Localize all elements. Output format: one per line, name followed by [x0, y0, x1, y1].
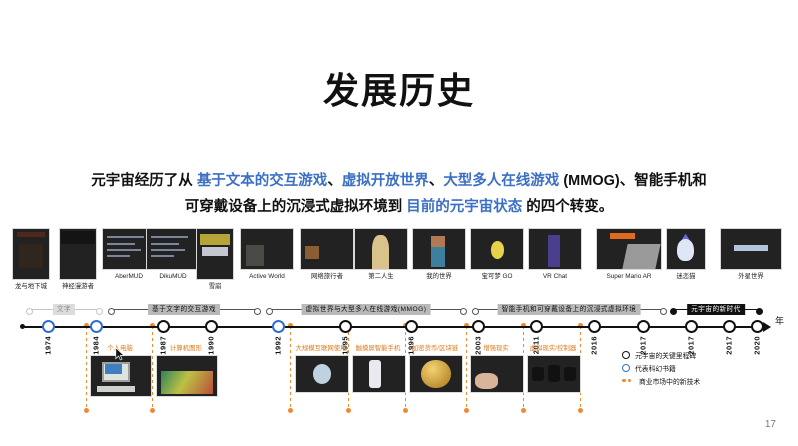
legend: 元宇宙的关键里程碑代表科幻书籍商业市场中的新技术	[622, 348, 792, 387]
technology-item: 增强现实	[470, 344, 522, 393]
technology-item: 加密货币/区块链	[409, 344, 461, 393]
thumbnail-caption: 我的世界	[412, 273, 466, 281]
thumbnail-item: Super Mario AR	[596, 228, 662, 281]
era-band: 元宇宙的新时代	[672, 304, 760, 315]
thumbnail-image	[596, 228, 662, 270]
thumbnail-image	[146, 228, 200, 270]
thumbnail-image	[412, 228, 466, 270]
slide-canvas: 发展历史 元宇宙经历了从 基于文本的交互游戏、虚拟开放世界、大型多人在线游戏 (…	[0, 0, 798, 446]
timeline-node-scifi[interactable]	[42, 320, 55, 333]
axis-start-dot	[20, 324, 25, 329]
technology-label: 增强现实	[470, 344, 522, 353]
thumbnail-image	[59, 228, 97, 280]
technology-item: 虚拟现实/控制器	[527, 344, 579, 393]
thumbnail-image	[240, 228, 294, 270]
paragraph-highlight-2: 虚拟开放世界	[342, 173, 429, 189]
paragraph-highlight-1: 基于文本的交互游戏	[197, 173, 328, 189]
paragraph-line-2: 可穿戴设备上的沉浸式虚拟环境到 目前的元宇宙状态 的四个转变。	[60, 194, 738, 220]
timeline-node-scifi[interactable]	[90, 320, 103, 333]
era-band-label: 文字	[53, 304, 75, 315]
paragraph-text-4: 的四个转变。	[522, 199, 613, 215]
era-band-label: 基于文字的交互游戏	[148, 304, 220, 315]
mouse-cursor-icon	[115, 347, 125, 362]
era-band: 虚拟世界与大型多人在线游戏(MMOG)	[268, 304, 464, 315]
legend-label: 商业市场中的新技术	[639, 376, 700, 386]
technology-label: 加密货币/区块链	[409, 344, 461, 353]
era-band-label: 元宇宙的新时代	[687, 304, 745, 315]
thumbnail-item: 外星世界	[720, 228, 782, 281]
technology-image	[156, 355, 218, 397]
thumbnail-caption: 外星世界	[720, 273, 782, 281]
technology-image	[295, 355, 349, 393]
milestone-thumbnail-strip: 龙与地下城神经漫游者AberMUDDikuMUD雪崩Active World网络…	[4, 228, 794, 296]
legend-marker-dots	[622, 379, 634, 383]
summary-paragraph: 元宇宙经历了从 基于文本的交互游戏、虚拟开放世界、大型多人在线游戏 (MMOG)…	[60, 168, 738, 220]
thumbnail-image	[720, 228, 782, 270]
paragraph-highlight-4: 目前的元宇宙状态	[406, 199, 522, 215]
thumbnail-caption: 第二人生	[354, 273, 408, 281]
technology-image	[470, 355, 524, 393]
axis-unit-label: 年	[775, 314, 784, 327]
thumbnail-caption: VR Chat	[528, 273, 582, 281]
thumbnail-caption: DikuMUD	[146, 273, 200, 281]
thumbnail-image	[666, 228, 706, 270]
thumbnail-image	[300, 228, 354, 270]
thumbnail-item: 迷恋猫	[666, 228, 706, 281]
era-band: 文字	[28, 304, 100, 315]
thumbnail-caption: 神经漫游者	[59, 283, 97, 291]
timeline-node-key[interactable]	[157, 320, 170, 333]
timeline-node-key[interactable]	[205, 320, 218, 333]
technology-image	[352, 355, 406, 393]
thumbnail-item: 第二人生	[354, 228, 408, 281]
thumbnail-item: 我的世界	[412, 228, 466, 281]
thumbnail-caption: 龙与地下城	[12, 283, 50, 291]
page-title: 发展历史	[0, 62, 798, 114]
thumbnail-image	[12, 228, 50, 280]
timeline-node-key[interactable]	[339, 320, 352, 333]
technology-image	[527, 355, 581, 393]
thumbnail-caption: Super Mario AR	[596, 273, 662, 281]
legend-item: 商业市场中的新技术	[622, 374, 792, 387]
thumbnail-item: 龙与地下城	[12, 228, 50, 291]
timeline-node-key[interactable]	[405, 320, 418, 333]
thumbnail-item: Active World	[240, 228, 294, 281]
technology-item: 大规模互联网使用	[295, 344, 347, 393]
era-band: 基于文字的交互游戏	[110, 304, 258, 315]
legend-label: 元宇宙的关键里程碑	[635, 350, 696, 360]
timeline-node-key[interactable]	[530, 320, 543, 333]
thumbnail-image	[354, 228, 408, 270]
technology-item: 计算机图形	[156, 344, 216, 397]
thumbnail-item: VR Chat	[528, 228, 582, 281]
thumbnail-image	[196, 228, 234, 280]
era-band-label: 智能手机和可穿戴设备上的沉浸式虚拟环境	[498, 304, 641, 315]
thumbnail-caption: 雪崩	[196, 283, 234, 291]
technology-image	[409, 355, 463, 393]
thumbnail-item: 宝可梦 GO	[470, 228, 524, 281]
thumbnail-item: 神经漫游者	[59, 228, 97, 291]
technology-label: 虚拟现实/控制器	[527, 344, 579, 353]
paragraph-text-1: 元宇宙经历了从	[91, 173, 197, 189]
legend-label: 代表科幻书籍	[635, 363, 676, 373]
technology-label: 计算机图形	[156, 344, 216, 353]
timeline-node-key[interactable]	[637, 320, 650, 333]
thumbnail-caption: Active World	[240, 273, 294, 281]
paragraph-sep-2: 、	[429, 173, 444, 189]
page-number: 17	[765, 419, 776, 430]
timeline-node-key[interactable]	[685, 320, 698, 333]
legend-marker-key	[622, 351, 630, 359]
legend-marker-scifi	[622, 364, 630, 372]
technology-label: 大规模互联网使用	[295, 344, 347, 353]
timeline-axis	[24, 326, 764, 328]
legend-item: 元宇宙的关键里程碑	[622, 348, 792, 361]
legend-item: 代表科幻书籍	[622, 361, 792, 374]
timeline-node-key[interactable]	[472, 320, 485, 333]
thumbnail-item: DikuMUD	[146, 228, 200, 281]
paragraph-text-3: 可穿戴设备上的沉浸式虚拟环境到	[185, 199, 407, 215]
technology-label: 触摸屏智能手机	[352, 344, 404, 353]
technology-item: 触摸屏智能手机	[352, 344, 404, 393]
timeline-node-key[interactable]	[723, 320, 736, 333]
axis-arrow-icon	[763, 322, 771, 332]
paragraph-text-2: (MMOG)、智能手机和	[559, 173, 706, 189]
thumbnail-caption: 迷恋猫	[666, 273, 706, 281]
thumbnail-caption: 网络旅行者	[300, 273, 354, 281]
timeline-node-key[interactable]	[751, 320, 764, 333]
thumbnail-item: 雪崩	[196, 228, 234, 291]
thumbnail-item: 网络旅行者	[300, 228, 354, 281]
thumbnail-image	[528, 228, 582, 270]
timeline-node-key[interactable]	[588, 320, 601, 333]
thumbnail-image	[470, 228, 524, 270]
paragraph-highlight-3: 大型多人在线游戏	[443, 173, 559, 189]
timeline-node-scifi[interactable]	[272, 320, 285, 333]
era-band: 智能手机和可穿戴设备上的沉浸式虚拟环境	[474, 304, 664, 315]
paragraph-sep-1: 、	[327, 173, 342, 189]
thumbnail-caption: 宝可梦 GO	[470, 273, 524, 281]
era-band-label: 虚拟世界与大型多人在线游戏(MMOG)	[302, 304, 431, 315]
